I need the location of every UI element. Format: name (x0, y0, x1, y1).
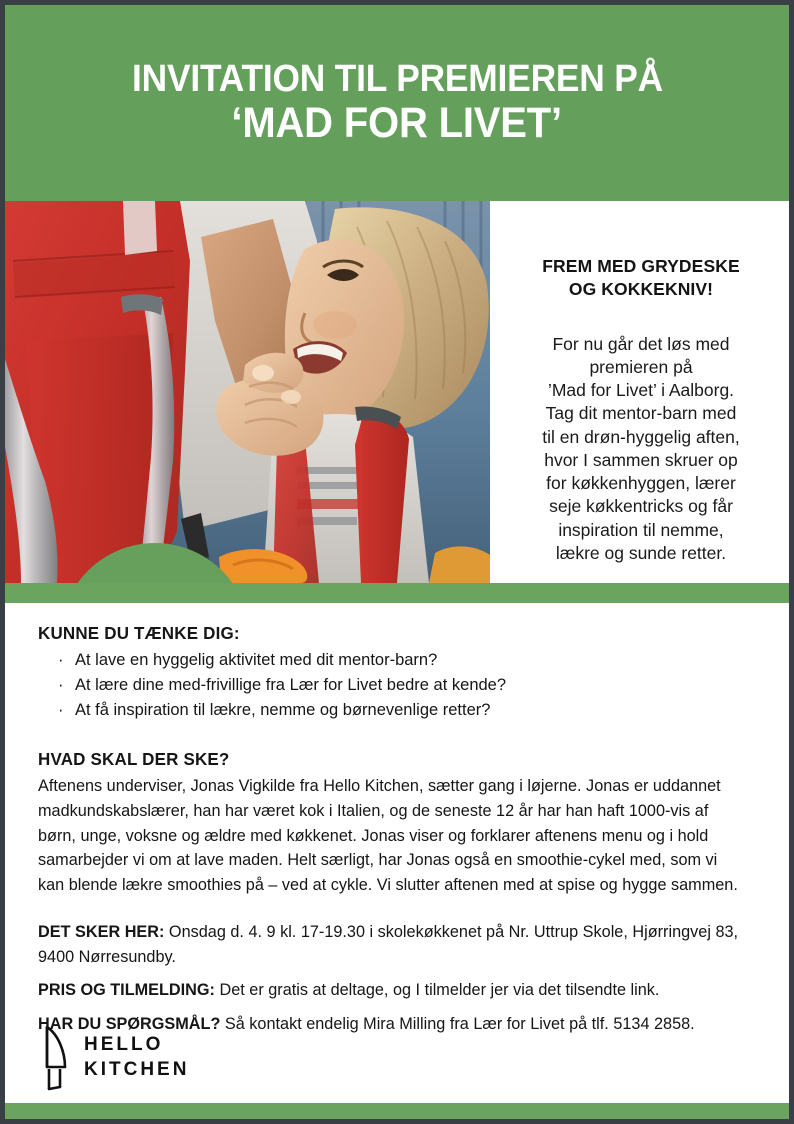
detail-price-value: Det er gratis at deltage, og I tilmelder… (215, 981, 659, 999)
intro-column: FREM MED GRYDESKE OG KOKKEKNIV! For nu g… (505, 201, 777, 583)
intro-body-line: For nu går det løs med (505, 333, 777, 356)
flyer-page: INVITATION TIL PREMIEREN PÅ ‘MAD FOR LIV… (0, 0, 794, 1124)
intro-heading: FREM MED GRYDESKE OG KOKKEKNIV! (505, 255, 777, 301)
wishlist-list: · At lave en hyggelig aktivitet med dit … (38, 648, 756, 723)
intro-body-line: premieren på (505, 356, 777, 379)
page-title-line2: ‘MAD FOR LIVET’ (232, 101, 562, 147)
intro-body: For nu går det løs med premieren på ’Mad… (505, 333, 777, 566)
hello-kitchen-logo: HELLO KITCHEN (43, 1023, 189, 1093)
footer-band (5, 1103, 789, 1119)
hero-photo: For dig og dit mentor-barn (5, 201, 490, 583)
detail-questions-value: Så kontakt endelig Mira Milling fra Lær … (220, 1015, 694, 1033)
intro-heading-line2: OG KOKKEKNIV! (569, 279, 713, 299)
logo-wordmark: HELLO KITCHEN (84, 1033, 189, 1082)
list-item: · At lære dine med-frivillige fra Lær fo… (38, 673, 756, 698)
details-block: DET SKER HER: Onsdag d. 4. 9 kl. 17-19.3… (38, 920, 756, 1037)
detail-where: DET SKER HER: Onsdag d. 4. 9 kl. 17-19.3… (38, 920, 745, 970)
list-item-label: At lave en hyggelig aktivitet med dit me… (75, 651, 437, 669)
intro-body-line: til en drøn-hyggelig aften, (505, 426, 777, 449)
program-paragraph: Aftenens underviser, Jonas Vigkilde fra … (38, 774, 745, 898)
detail-price-label: PRIS OG TILMELDING: (38, 981, 215, 999)
bullet-icon: · (58, 698, 64, 723)
wishlist-heading: KUNNE DU TÆNKE DIG: (38, 623, 734, 644)
list-item: · At få inspiration til lækre, nemme og … (38, 698, 756, 723)
intro-body-line: lækre og sunde retter. (505, 542, 777, 565)
intro-body-line: seje køkkentricks og får (505, 495, 777, 518)
page-title-line1: INVITATION TIL PREMIEREN PÅ (131, 59, 662, 99)
detail-where-label: DET SKER HER: (38, 923, 164, 941)
main-content: KUNNE DU TÆNKE DIG: · At lave en hyggeli… (38, 623, 756, 1046)
header-band: INVITATION TIL PREMIEREN PÅ ‘MAD FOR LIV… (5, 5, 789, 201)
logo-word-kitchen: KITCHEN (84, 1058, 189, 1083)
bullet-icon: · (58, 673, 64, 698)
section-divider (5, 583, 789, 603)
logo-word-hello: HELLO (84, 1033, 189, 1058)
chef-knife-icon (43, 1023, 69, 1093)
intro-body-line: hvor I sammen skruer op (505, 449, 777, 472)
bullet-icon: · (58, 648, 64, 673)
intro-body-line: for køkkenhyggen, lærer (505, 472, 777, 495)
spacer (38, 723, 756, 749)
program-heading: HVAD SKAL DER SKE? (38, 749, 734, 770)
detail-price: PRIS OG TILMELDING: Det er gratis at del… (38, 978, 745, 1003)
list-item: · At lave en hyggelig aktivitet med dit … (38, 648, 756, 673)
list-item-label: At få inspiration til lækre, nemme og bø… (75, 701, 490, 719)
intro-body-line: inspiration til nemme, (505, 519, 777, 542)
intro-heading-line1: FREM MED GRYDESKE (542, 256, 739, 276)
intro-body-line: ’Mad for Livet’ i Aalborg. (505, 379, 777, 402)
intro-body-line: Tag dit mentor-barn med (505, 402, 777, 425)
hero-photo-image (5, 201, 490, 583)
list-item-label: At lære dine med-frivillige fra Lær for … (75, 676, 506, 694)
